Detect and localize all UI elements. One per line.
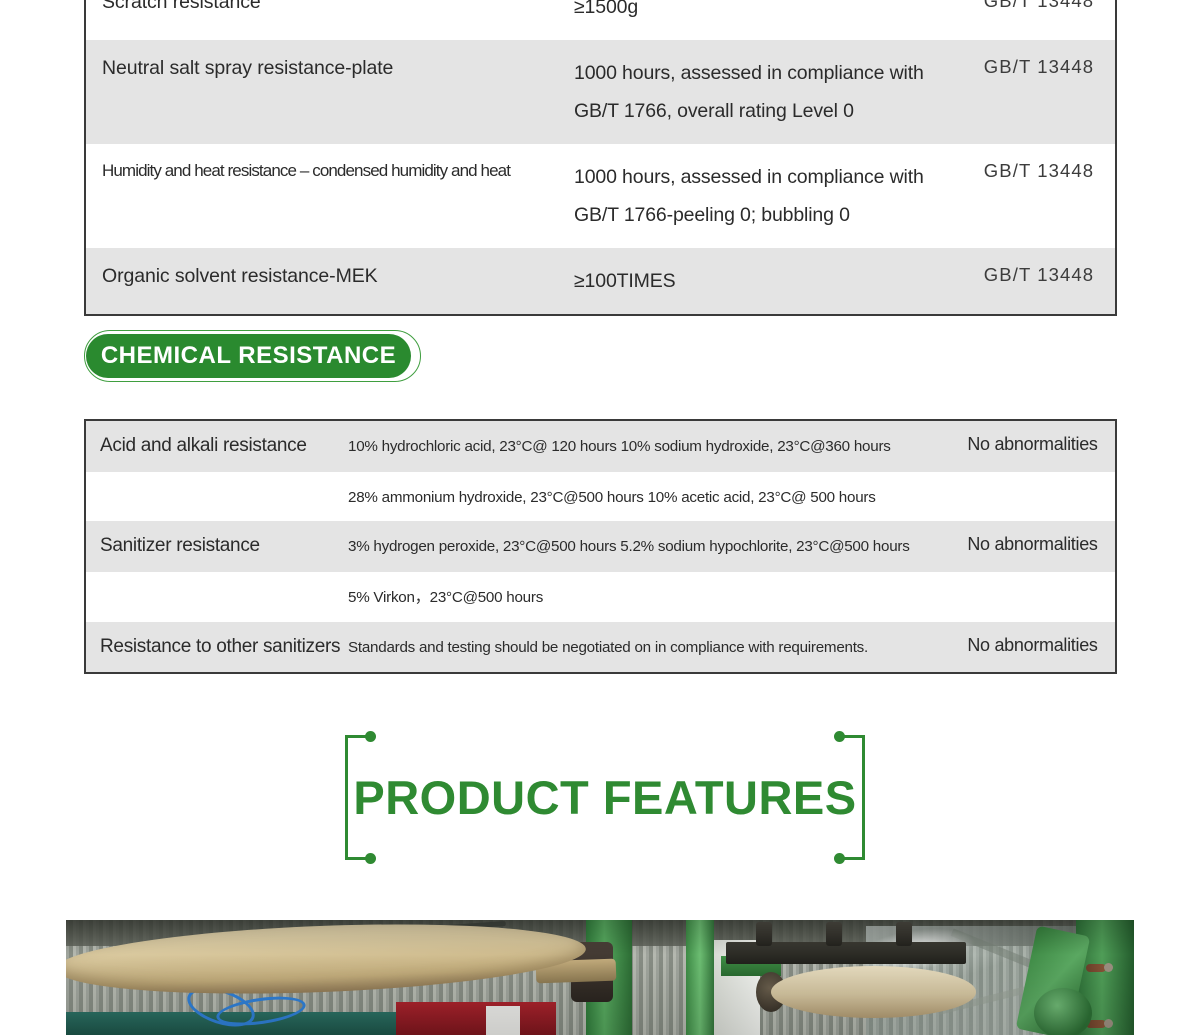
page-title: PRODUCT FEATURES	[345, 735, 865, 860]
property-value: ≥100TIMES	[571, 248, 969, 315]
property-standard: GB/T 13448	[969, 40, 1116, 144]
chemical-name: Sanitizer resistance	[85, 521, 348, 572]
property-name: Organic solvent resistance-MEK	[85, 248, 571, 315]
property-value: ≥1500g	[571, 0, 969, 40]
table-row: Acid and alkali resistance 10% hydrochlo…	[85, 420, 1116, 472]
table-row: Scratch resistance ≥1500g GB/T 13448	[85, 0, 1116, 40]
property-standard: GB/T 13448	[969, 0, 1116, 40]
badge-label: CHEMICAL RESISTANCE	[101, 342, 396, 370]
chemical-result: No abnormalities	[956, 521, 1116, 572]
property-standard: GB/T 13448	[969, 248, 1116, 315]
property-value: 1000 hours, assessed in compliance with …	[571, 144, 969, 248]
chemical-conditions: 3% hydrogen peroxide, 23°C@500 hours 5.2…	[348, 521, 956, 572]
chemical-resistance-table: Acid and alkali resistance 10% hydrochlo…	[84, 419, 1117, 674]
chemical-conditions: 28% ammonium hydroxide, 23°C@500 hours 1…	[348, 472, 956, 522]
chemical-result	[956, 572, 1116, 622]
chemical-name: Resistance to other sanitizers	[85, 622, 348, 674]
table-row: Organic solvent resistance-MEK ≥100TIMES…	[85, 248, 1116, 315]
table-row: Humidity and heat resistance – condensed…	[85, 144, 1116, 248]
table-row: 28% ammonium hydroxide, 23°C@500 hours 1…	[85, 472, 1116, 522]
value-line: GB/T 1766, overall rating Level 0	[574, 92, 961, 130]
property-value: 1000 hours, assessed in compliance with …	[571, 40, 969, 144]
chemical-result: No abnormalities	[956, 622, 1116, 674]
property-standard: GB/T 13448	[969, 144, 1116, 248]
chemical-conditions: Standards and testing should be negotiat…	[348, 622, 956, 674]
chemical-result	[956, 472, 1116, 522]
value-line: 1000 hours, assessed in compliance with	[574, 158, 961, 196]
physical-properties-table: Scratch resistance ≥1500g GB/T 13448 Neu…	[84, 0, 1117, 316]
chemical-name: Acid and alkali resistance	[85, 420, 348, 472]
property-name: Neutral salt spray resistance-plate	[85, 40, 571, 144]
badge-fill: CHEMICAL RESISTANCE	[86, 334, 411, 378]
table-row: 5% Virkon，23°C@500 hours	[85, 572, 1116, 622]
product-features-heading: PRODUCT FEATURES	[345, 735, 865, 860]
property-name: Scratch resistance	[85, 0, 571, 40]
table-row: Neutral salt spray resistance-plate 1000…	[85, 40, 1116, 144]
value-line: 1000 hours, assessed in compliance with	[574, 54, 961, 92]
value-line: ≥1500g	[574, 0, 961, 26]
chemical-name	[85, 572, 348, 622]
table-row: Resistance to other sanitizers Standards…	[85, 622, 1116, 674]
value-line: ≥100TIMES	[574, 262, 961, 300]
chemical-result: No abnormalities	[956, 420, 1116, 472]
product-spec-page: Scratch resistance ≥1500g GB/T 13448 Neu…	[0, 0, 1200, 1035]
property-name: Humidity and heat resistance – condensed…	[85, 144, 571, 248]
photo-vignette	[66, 920, 1134, 1035]
value-line: GB/T 1766-peeling 0; bubbling 0	[574, 196, 961, 234]
table-row: Sanitizer resistance 3% hydrogen peroxid…	[85, 521, 1116, 572]
chemical-conditions: 5% Virkon，23°C@500 hours	[348, 572, 956, 622]
chemical-conditions: 10% hydrochloric acid, 23°C@ 120 hours 1…	[348, 420, 956, 472]
photo-scene	[66, 920, 1134, 1035]
chemical-name	[85, 472, 348, 522]
chemical-resistance-badge: CHEMICAL RESISTANCE	[84, 330, 421, 382]
product-features-photo	[66, 920, 1134, 1035]
